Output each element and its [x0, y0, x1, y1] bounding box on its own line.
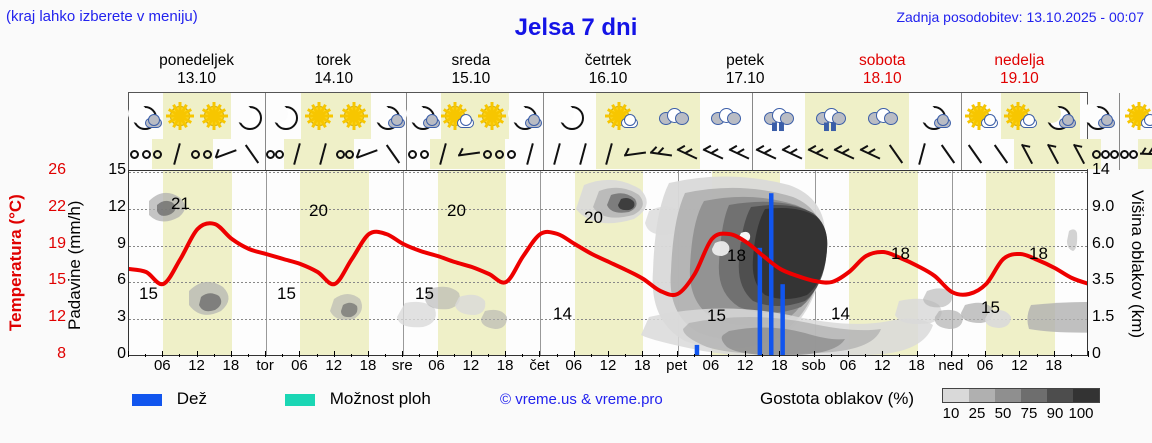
cloud-density-legend-title: Gostota oblakov (%)	[760, 389, 914, 409]
day-header-0: ponedeljek13.10	[128, 52, 265, 90]
cloud-icon	[457, 118, 474, 128]
sun-icon	[482, 106, 502, 126]
wind-barb-slot	[883, 139, 909, 169]
time-tick-mark	[488, 354, 489, 357]
time-tick-label: 12	[1011, 357, 1028, 374]
weather-icon-slot	[163, 93, 197, 139]
cloud-density-step-label: 10	[938, 405, 964, 422]
time-tick-mark	[145, 354, 146, 357]
moon-cloud-icon	[372, 102, 406, 130]
sun-icon	[163, 102, 197, 130]
daily-min-label: 15	[981, 298, 1000, 317]
wind-barb-calm	[191, 150, 200, 159]
weather-icon-slot	[441, 93, 475, 139]
cloud-density-step-label: 75	[1016, 405, 1042, 422]
day-date: 16.10	[539, 70, 676, 88]
wind-barb-calm	[495, 150, 504, 159]
weather-icon-slot	[197, 93, 231, 139]
wind-barb-slot	[407, 139, 419, 169]
cloud-density-step	[995, 389, 1021, 402]
temperature-tick: 26	[30, 161, 66, 179]
wind-barb-calm	[1129, 150, 1138, 159]
cloud-icon	[525, 118, 542, 128]
wind-barb-calm	[507, 150, 516, 159]
day-header-5: sobota18.10	[814, 52, 951, 90]
legend-row: Dež Možnost ploh © vreme.us & vreme.pro …	[0, 381, 1152, 421]
cloud-rain-icon: ██	[764, 108, 794, 124]
wind-barb-row	[544, 139, 752, 169]
day-abbr-label: tor	[256, 357, 274, 374]
weather-icon-slot	[231, 93, 265, 139]
wind-barb-calm	[483, 150, 492, 159]
icon-row	[962, 93, 1119, 139]
day-name: sreda	[402, 52, 539, 70]
time-tick-mark	[1037, 354, 1038, 357]
day-column-2	[407, 93, 544, 170]
wind-barb-slot	[505, 139, 517, 169]
icon-row	[266, 93, 406, 139]
time-tick-label: 18	[1045, 357, 1062, 374]
day-abbr-label: pet	[666, 357, 687, 374]
wind-barb-slot	[988, 139, 1014, 169]
cloud-height-tick: 0	[1092, 345, 1130, 363]
time-tick-mark	[317, 354, 318, 357]
weather-icon-slot	[648, 93, 700, 139]
wind-barb-slot	[129, 139, 141, 169]
day-name: torek	[265, 52, 402, 70]
wind-barb-slot	[456, 139, 482, 169]
cloud-icon	[621, 118, 638, 128]
cloud-icon	[145, 118, 162, 128]
precipitation-tick: 15	[104, 161, 126, 179]
temperature-axis-label: Temperatura (°C)	[4, 170, 28, 356]
precipitation-tick: 12	[104, 198, 126, 216]
cloud-density-gradient	[942, 388, 1100, 403]
daily-max-label: 20	[584, 208, 603, 227]
wind-barb-calm	[266, 150, 275, 159]
moon-icon	[267, 102, 301, 130]
wind-barb-calm	[130, 150, 139, 159]
day-abbr-label: ned	[938, 357, 963, 374]
day-column-4: ████	[753, 93, 962, 170]
legend-rain-label: Dež	[177, 389, 207, 408]
time-tick-label: 18	[223, 357, 240, 374]
day-header-4: petek17.10	[677, 52, 814, 90]
wind-barb-slot	[596, 139, 622, 169]
day-name: četrtek	[539, 52, 676, 70]
time-tick-mark	[128, 351, 129, 357]
cloud-rain-icon: ██	[762, 102, 796, 130]
sun-icon	[204, 106, 224, 126]
temperature-curve-layer: 2120202018181815151514151415	[129, 171, 1088, 356]
cloud-density-step	[1021, 389, 1047, 402]
weather-icon-slot	[544, 93, 596, 139]
wind-barb	[234, 136, 270, 172]
cloud-icon	[981, 118, 998, 128]
wind-barb-slot	[779, 139, 805, 169]
weather-icon-slot	[407, 93, 441, 139]
time-tick-mark	[831, 354, 832, 357]
weather-icon-slot	[266, 93, 301, 139]
time-tick-mark	[659, 354, 660, 357]
wind-barb-calm	[142, 150, 151, 159]
day-column-5	[962, 93, 1120, 170]
time-tick-label: 12	[463, 357, 480, 374]
weather-icon-slot	[475, 93, 509, 139]
time-tick-label: 18	[908, 357, 925, 374]
wind-barb	[375, 136, 411, 172]
wind-barb-slot	[517, 139, 543, 169]
day-column-0	[129, 93, 266, 170]
day-abbr-label: sob	[802, 357, 826, 374]
time-tick-mark	[899, 354, 900, 357]
wind-barb-slot	[805, 139, 831, 169]
wind-barb-slot	[935, 139, 961, 169]
wind-barb-slot	[482, 139, 494, 169]
cloud-density-step	[1047, 389, 1073, 402]
weather-icon-slot: ██	[805, 93, 857, 139]
daily-min-label: 15	[139, 284, 158, 303]
moon-icon	[231, 102, 265, 130]
temperature-tick: 15	[30, 271, 66, 289]
icon-row	[544, 93, 752, 139]
daily-max-label: 18	[891, 244, 910, 263]
day-header-2: sreda15.10	[402, 52, 539, 90]
last-update-text: Zadnja posodobitev: 13.10.2025 - 00:07	[896, 9, 1144, 25]
day-header-6: nedelja19.10	[951, 52, 1088, 90]
cloud-density-step-label: 100	[1068, 405, 1094, 422]
wind-barb	[514, 138, 546, 170]
cloud-icon	[868, 108, 898, 124]
time-tick-label: 06	[565, 357, 582, 374]
day-date: 18.10	[814, 70, 951, 88]
cloud-density-scale-labels: 1025507590100	[938, 405, 1094, 422]
wind-barb-slot	[266, 139, 275, 169]
moon-cloud-icon	[918, 102, 952, 130]
time-tick-label: 06	[703, 357, 720, 374]
time-tick-mark	[1088, 351, 1089, 357]
wind-barb-slot	[380, 139, 406, 169]
day-date: 19.10	[951, 70, 1088, 88]
cloud-icon	[1020, 118, 1037, 128]
cloud-icon	[709, 102, 743, 130]
daily-min-label: 15	[277, 284, 296, 303]
wind-barb-row	[753, 139, 961, 169]
weather-icon-slot	[301, 93, 336, 139]
legend-rain: Dež	[132, 389, 207, 409]
precipitation-tick: 6	[104, 271, 126, 289]
weather-icon-slot	[1041, 93, 1080, 139]
wind-barb	[455, 139, 484, 168]
cloud-height-tick: 1.5	[1092, 308, 1130, 326]
day-date: 14.10	[265, 70, 402, 88]
legend-showers: Možnost ploh	[285, 389, 431, 409]
wind-barb	[1138, 141, 1152, 168]
time-tick-mark	[865, 354, 866, 357]
cloud-icon	[388, 118, 405, 128]
time-tick-label: 06	[291, 357, 308, 374]
time-tick-mark	[557, 354, 558, 357]
time-tick-mark	[282, 354, 283, 357]
daily-min-label: 15	[707, 306, 726, 325]
day-name: petek	[677, 52, 814, 70]
time-tick-label: 06	[154, 357, 171, 374]
time-tick-label: 18	[360, 357, 377, 374]
moon-cloud-icon	[509, 102, 543, 130]
wind-barb-slot	[857, 139, 883, 169]
moon-icon	[560, 106, 580, 126]
daily-min-label: 15	[415, 284, 434, 303]
wind-barb-slot	[336, 139, 345, 169]
weather-symbol-band: ████	[128, 92, 1088, 170]
weather-icon-slot	[700, 93, 752, 139]
wind-barb-calm	[1120, 150, 1129, 159]
wind-barb	[541, 138, 573, 170]
day-header-3: četrtek16.10	[539, 52, 676, 90]
daily-max-label: 18	[727, 246, 746, 265]
wind-barb	[161, 138, 193, 170]
meteogram-plot[interactable]: 2120202018181815151514151415	[128, 170, 1088, 356]
wind-barb-slot	[152, 139, 164, 169]
daily-max-label: 20	[447, 201, 466, 220]
cloud-icon	[1059, 118, 1076, 128]
sun-cloud-icon	[1125, 102, 1152, 130]
precipitation-tick: 9	[104, 235, 126, 253]
weather-icon-slot	[962, 93, 1001, 139]
sun-cloud-icon	[965, 102, 999, 130]
wind-barb-slot	[962, 139, 988, 169]
moon-icon	[274, 106, 294, 126]
day-column-6	[1120, 93, 1152, 170]
wind-barb-slot	[284, 139, 310, 169]
moon-cloud-icon	[1043, 102, 1077, 130]
time-tick-mark	[591, 354, 592, 357]
day-date: 15.10	[402, 70, 539, 88]
day-column-3	[544, 93, 753, 170]
precipitation-tick: 3	[104, 308, 126, 326]
daily-max-label: 21	[171, 194, 190, 213]
icon-row	[129, 93, 265, 139]
time-tick-mark	[934, 354, 935, 357]
day-name: sobota	[814, 52, 951, 70]
time-tick-label: 06	[428, 357, 445, 374]
time-tick-mark	[419, 354, 420, 357]
temperature-tick: 22	[30, 198, 66, 216]
daily-min-label: 14	[553, 304, 572, 323]
cloud-height-tick-labels: 149.06.03.51.50	[1092, 170, 1132, 356]
sun-icon	[309, 106, 329, 126]
cloud-icon	[423, 118, 440, 128]
day-header-1: torek14.10	[265, 52, 402, 90]
time-tick-mark	[248, 354, 249, 357]
time-axis: 061218tor061218sre061218čet061218pet0612…	[128, 357, 1088, 379]
sun-cloud-icon	[1004, 102, 1038, 130]
wind-barb	[620, 139, 649, 168]
wind-barb	[307, 138, 339, 170]
cloud-icon	[1098, 118, 1115, 128]
daily-max-label: 18	[1029, 244, 1048, 263]
cloud-height-tick: 3.5	[1092, 271, 1130, 289]
cloud-height-tick: 6.0	[1092, 235, 1130, 253]
icon-row	[407, 93, 543, 139]
time-tick-label: 06	[840, 357, 857, 374]
sun-icon	[475, 102, 509, 130]
cloud-icon	[1141, 118, 1152, 128]
time-tick-label: 12	[325, 357, 342, 374]
wind-barb-slot	[190, 139, 202, 169]
sun-icon	[197, 102, 231, 130]
time-tick-mark	[762, 354, 763, 357]
day-abbr-label: sre	[392, 357, 413, 374]
icon-row	[1120, 93, 1152, 139]
sun-icon	[344, 106, 364, 126]
time-tick-mark	[522, 354, 523, 357]
cloud-icon	[866, 102, 900, 130]
day-abbr-label: čet	[529, 357, 549, 374]
time-tick-mark	[1002, 354, 1003, 357]
time-tick-mark	[625, 354, 626, 357]
time-tick-label: 12	[600, 357, 617, 374]
time-tick-mark	[385, 354, 386, 357]
cloud-density-step	[969, 389, 995, 402]
wind-barb-slot	[494, 139, 506, 169]
cloud-icon	[659, 108, 689, 124]
time-tick-mark	[797, 354, 798, 357]
weather-icon-slot	[857, 93, 909, 139]
cloud-height-tick: 9.0	[1092, 198, 1130, 216]
wind-barb-slot	[909, 139, 935, 169]
rain-dashes: ██	[824, 124, 838, 132]
time-tick-label: 12	[874, 357, 891, 374]
cloud-density-step-label: 50	[990, 405, 1016, 422]
wind-barb-row	[266, 139, 406, 169]
copyright-link[interactable]: © vreme.us & vreme.pro	[500, 391, 663, 408]
cloud-density-step	[1073, 389, 1099, 402]
time-tick-mark	[694, 354, 695, 357]
cloud-icon	[657, 102, 691, 130]
cloud-height-tick: 14	[1092, 161, 1130, 179]
wind-barb-slot	[831, 139, 857, 169]
time-tick-mark	[179, 354, 180, 357]
legend-showers-label: Možnost ploh	[330, 389, 431, 408]
wind-barb-slot	[1066, 139, 1092, 169]
weather-icon-slot	[509, 93, 543, 139]
time-tick-mark	[728, 354, 729, 357]
time-tick-mark	[454, 354, 455, 357]
weather-icon-slot	[909, 93, 961, 139]
time-tick-label: 18	[634, 357, 651, 374]
time-tick-label: 12	[188, 357, 205, 374]
time-tick-mark	[1071, 354, 1072, 357]
precipitation-tick-labels: 15129630	[88, 170, 126, 356]
moon-cloud-icon	[1082, 102, 1116, 130]
weather-icon-slot	[1120, 93, 1152, 139]
wind-barb-slot	[753, 139, 779, 169]
wind-barb-slot	[622, 139, 648, 169]
cloud-density-step-label: 25	[964, 405, 990, 422]
wind-barb-calm	[153, 150, 162, 159]
wind-barb-calm	[1092, 150, 1101, 159]
time-tick-mark	[968, 354, 969, 357]
wind-barb-calm	[1101, 150, 1110, 159]
moon-cloud-icon	[129, 102, 163, 130]
wind-barb-slot	[544, 139, 570, 169]
wind-barb-slot	[726, 139, 752, 169]
day-header-row: ponedeljek13.10torek14.10sreda15.10četrt…	[128, 52, 1088, 90]
day-name: nedelja	[951, 52, 1088, 70]
wind-barb-slot	[674, 139, 700, 169]
moon-icon	[238, 106, 258, 126]
wind-barb-slot	[648, 139, 674, 169]
cloud-density-step-label: 90	[1042, 405, 1068, 422]
sun-icon	[337, 102, 371, 130]
wind-barb	[281, 138, 313, 170]
cloud-icon	[711, 108, 741, 124]
precipitation-tick: 0	[104, 345, 126, 363]
daily-max-label: 20	[309, 201, 328, 220]
temperature-tick: 8	[30, 345, 66, 363]
wind-barb-slot	[1040, 139, 1066, 169]
wind-barb-slot	[239, 139, 265, 169]
weather-icon-slot	[371, 93, 406, 139]
sun-icon	[170, 106, 190, 126]
cloud-rain-icon: ██	[814, 102, 848, 130]
icon-row: ████	[753, 93, 961, 139]
temperature-line	[129, 223, 1088, 295]
wind-barb-slot	[141, 139, 153, 169]
wind-barb-slot	[1014, 139, 1040, 169]
rain-swatch	[132, 394, 162, 406]
sun-cloud-icon	[605, 102, 639, 130]
daily-min-label: 14	[831, 304, 850, 323]
time-tick-label: 12	[737, 357, 754, 374]
weather-icon-slot	[596, 93, 648, 139]
day-date: 17.10	[677, 70, 814, 88]
time-tick-label: 18	[771, 357, 788, 374]
wind-barb-slot	[700, 139, 726, 169]
wind-barb-row	[407, 139, 543, 169]
weather-icon-slot: ██	[753, 93, 805, 139]
wind-barb-slot	[1138, 139, 1152, 169]
temperature-tick: 19	[30, 235, 66, 253]
weather-icon-slot	[1080, 93, 1119, 139]
rain-dashes: ██	[772, 124, 786, 132]
time-tick-label: 06	[977, 357, 994, 374]
wind-barb	[567, 138, 599, 170]
showers-swatch	[285, 394, 315, 406]
weather-icon-slot	[1001, 93, 1040, 139]
wind-barb-calm	[1110, 150, 1119, 159]
weather-icon-slot	[336, 93, 371, 139]
wind-barb-slot	[310, 139, 336, 169]
time-tick-mark	[351, 354, 352, 357]
sun-cloud-icon	[441, 102, 475, 130]
wind-barb-slot	[430, 139, 456, 169]
time-tick-label: 18	[497, 357, 514, 374]
cloud-icon	[934, 118, 951, 128]
sun-icon	[302, 102, 336, 130]
wind-barb-slot	[213, 139, 239, 169]
wind-barb-slot	[164, 139, 190, 169]
temperature-tick-labels: 26221915128	[28, 170, 66, 356]
day-date: 13.10	[128, 70, 265, 88]
cloud-rain-icon: ██	[816, 108, 846, 124]
cloud-density-step	[943, 389, 969, 402]
wind-barb-calm	[336, 150, 345, 159]
weather-icon-slot	[129, 93, 163, 139]
moon-icon	[553, 102, 587, 130]
wind-barb-row	[129, 139, 265, 169]
